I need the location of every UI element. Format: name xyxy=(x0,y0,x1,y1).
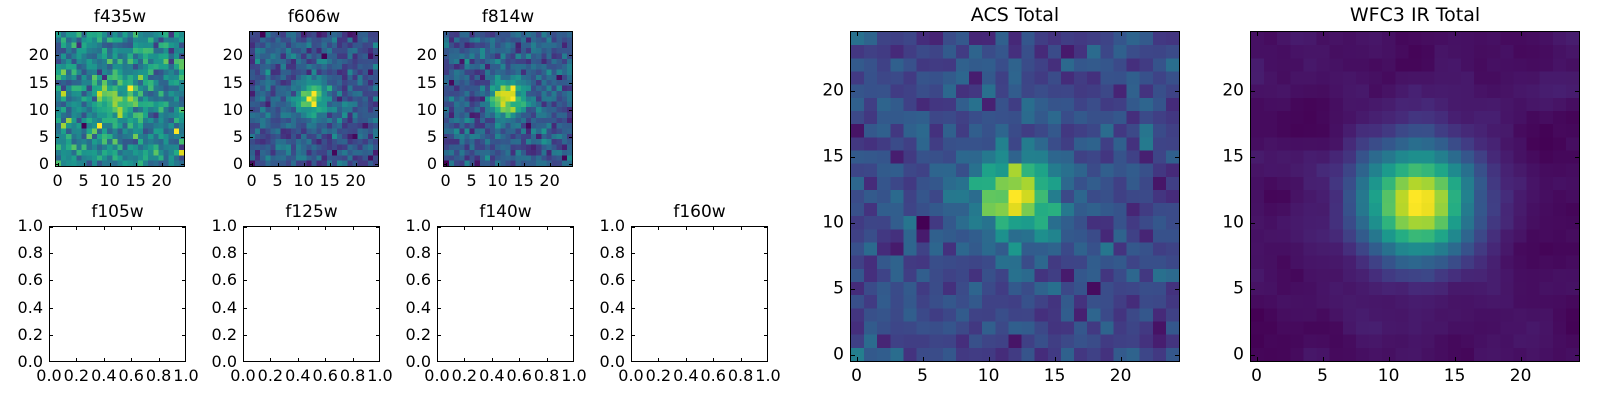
yticklabel-wfc3-ir-total-2: 10 xyxy=(1204,214,1244,231)
heatmap-wfc3-ir-total xyxy=(1250,31,1580,362)
xtick-wfc3-ir-total-2 xyxy=(1389,357,1390,362)
ytick-right-wfc3-ir-total-3 xyxy=(1575,157,1580,158)
ytick-right-wfc3-ir-total-4 xyxy=(1575,91,1580,92)
xticklabel-wfc3-ir-total-4: 20 xyxy=(1510,368,1532,385)
xtick-top-wfc3-ir-total-0 xyxy=(1257,31,1258,36)
ytick-right-wfc3-ir-total-1 xyxy=(1575,289,1580,290)
ytick-wfc3-ir-total-0 xyxy=(1250,355,1255,356)
xtick-wfc3-ir-total-4 xyxy=(1521,357,1522,362)
ytick-wfc3-ir-total-3 xyxy=(1250,157,1255,158)
ytick-wfc3-ir-total-2 xyxy=(1250,223,1255,224)
xtick-wfc3-ir-total-3 xyxy=(1455,357,1456,362)
xtick-top-wfc3-ir-total-4 xyxy=(1521,31,1522,36)
xtick-wfc3-ir-total-0 xyxy=(1257,357,1258,362)
yticklabel-wfc3-ir-total-1: 5 xyxy=(1204,281,1244,298)
ytick-right-wfc3-ir-total-0 xyxy=(1575,355,1580,356)
xtick-top-wfc3-ir-total-1 xyxy=(1323,31,1324,36)
ytick-wfc3-ir-total-4 xyxy=(1250,91,1255,92)
xticklabel-wfc3-ir-total-2: 10 xyxy=(1378,368,1400,385)
yticklabel-wfc3-ir-total-0: 0 xyxy=(1204,347,1244,364)
xtick-top-wfc3-ir-total-3 xyxy=(1455,31,1456,36)
ytick-wfc3-ir-total-1 xyxy=(1250,289,1255,290)
xticklabel-wfc3-ir-total-1: 5 xyxy=(1317,368,1328,385)
yticklabel-wfc3-ir-total-4: 20 xyxy=(1204,82,1244,99)
xtick-wfc3-ir-total-1 xyxy=(1323,357,1324,362)
heatmap-canvas-wfc3-ir-total xyxy=(1251,32,1579,361)
xticklabel-wfc3-ir-total-3: 15 xyxy=(1444,368,1466,385)
ytick-right-wfc3-ir-total-2 xyxy=(1575,223,1580,224)
panel-wfc3-ir-total: WFC3 IR Total0510152005101520 xyxy=(0,0,1600,400)
yticklabel-wfc3-ir-total-3: 15 xyxy=(1204,148,1244,165)
panel-title-wfc3-ir-total: WFC3 IR Total xyxy=(1250,6,1580,25)
xticklabel-wfc3-ir-total-0: 0 xyxy=(1251,368,1262,385)
xtick-top-wfc3-ir-total-2 xyxy=(1389,31,1390,36)
